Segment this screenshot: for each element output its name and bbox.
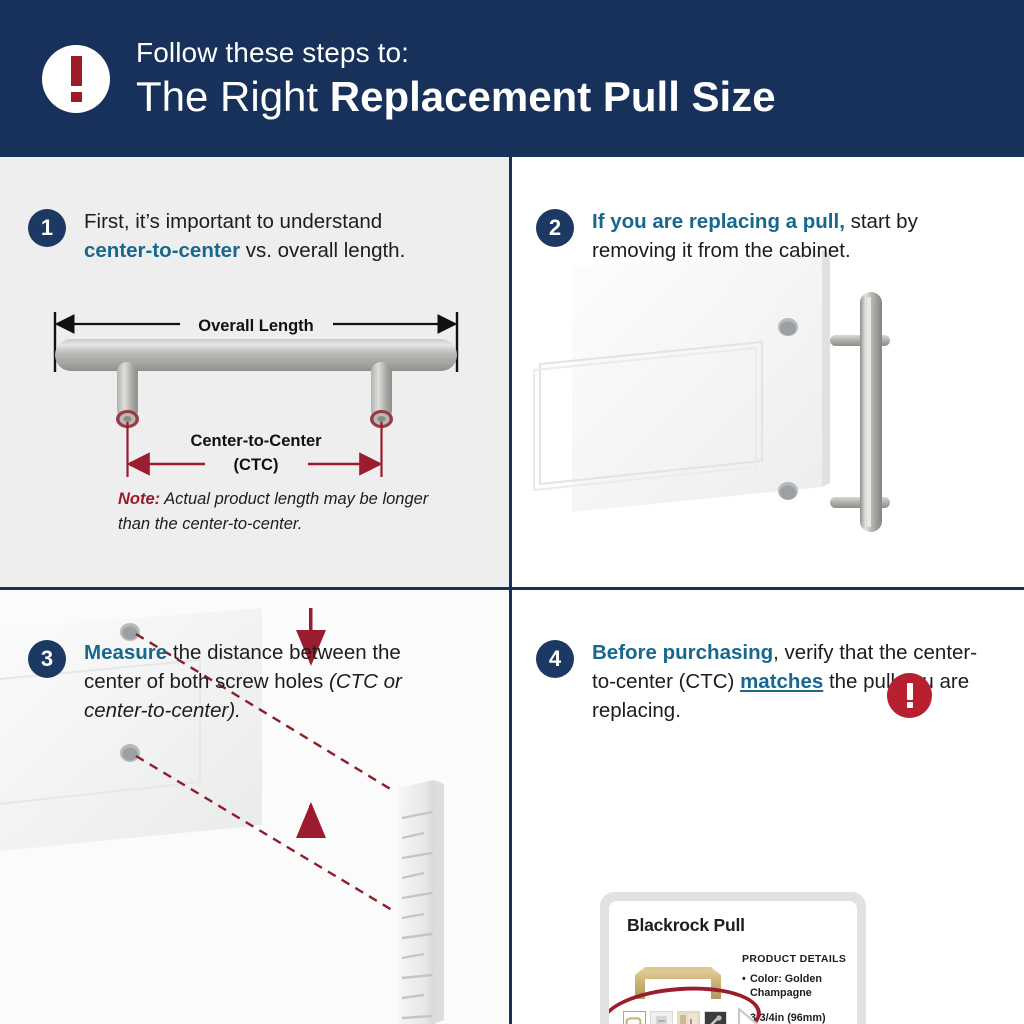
horizontal-divider bbox=[0, 587, 1024, 590]
product-bullet-color: Color: Golden Champagne bbox=[742, 973, 857, 1001]
product-detail-card: Blackrock Pull bbox=[609, 901, 857, 1024]
alert-exclamation-icon bbox=[887, 673, 932, 718]
step-panel-1: 1 First, it’s important to understand ce… bbox=[0, 157, 509, 587]
overall-length-label: Overall Length bbox=[198, 317, 314, 335]
vertical-divider bbox=[509, 157, 512, 1024]
step-number-badge-4: 4 bbox=[536, 640, 574, 678]
exclamation-glyph bbox=[71, 56, 82, 102]
header-kicker: Follow these steps to: bbox=[136, 38, 776, 69]
header-text-block: Follow these steps to: The Right Replace… bbox=[136, 38, 776, 119]
exclamation-icon bbox=[42, 45, 110, 113]
note-text: Actual product length may be longer than… bbox=[118, 490, 428, 533]
step-panel-2: 2 If you are replacing a pull, start by … bbox=[512, 157, 1024, 587]
infographic-root: Follow these steps to: The Right Replace… bbox=[0, 0, 1024, 1024]
page-title-bold: Replacement Pull Size bbox=[330, 73, 776, 120]
step-3-text: Measure the distance between the center … bbox=[84, 638, 448, 725]
page-title: The Right Replacement Pull Size bbox=[136, 75, 776, 119]
step-number-badge-3: 3 bbox=[28, 640, 66, 678]
step-3-text-accent: Measure bbox=[84, 641, 167, 664]
step-panel-3: 3 Measure the distance between the cente… bbox=[0, 590, 509, 1024]
step-1-note: Note: Actual product length may be longe… bbox=[118, 487, 458, 537]
step-4-text: Before purchasing, verify that the cente… bbox=[592, 638, 996, 725]
product-title: Blackrock Pull bbox=[627, 915, 745, 936]
step-4-text-accent: Before purchasing bbox=[592, 641, 773, 664]
header-banner: Follow these steps to: The Right Replace… bbox=[0, 0, 1024, 157]
ctc-label: Center-to-Center bbox=[190, 432, 322, 450]
step-number-badge-2: 2 bbox=[536, 209, 574, 247]
product-page-monitor: Blackrock Pull bbox=[600, 892, 875, 1024]
product-details-heading: PRODUCT DETAILS bbox=[742, 953, 846, 965]
mouse-cursor-icon bbox=[735, 1007, 781, 1024]
matches-link[interactable]: matches bbox=[740, 670, 823, 693]
step-3-heading: 3 Measure the distance between the cente… bbox=[28, 638, 448, 725]
step-2-heading: 2 If you are replacing a pull, start by … bbox=[536, 207, 936, 265]
note-label: Note: bbox=[118, 490, 160, 508]
step-panel-4: 4 Before purchasing, verify that the cen… bbox=[512, 590, 1024, 1024]
monitor-bezel: Blackrock Pull bbox=[600, 892, 866, 1024]
step-2-text-accent: If you are replacing a pull, bbox=[592, 210, 845, 233]
steps-grid: 1 First, it’s important to understand ce… bbox=[0, 157, 1024, 1024]
page-title-light: The Right bbox=[136, 73, 330, 120]
ctc-abbrev-label: (CTC) bbox=[234, 456, 279, 474]
step-2-text: If you are replacing a pull, start by re… bbox=[592, 207, 936, 265]
